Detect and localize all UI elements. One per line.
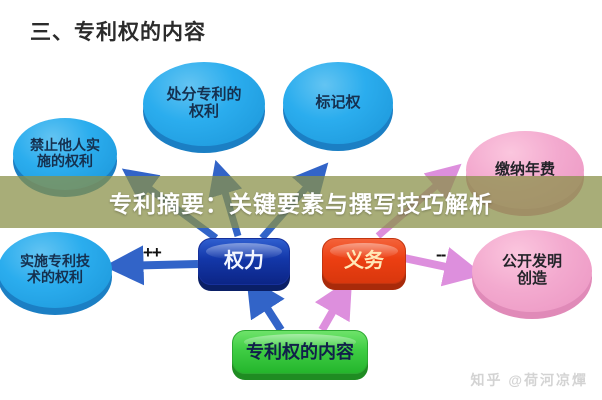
edge-content-to-power (254, 288, 281, 330)
node-marking-right[interactable]: 标记权 (283, 62, 393, 144)
node-duty[interactable]: 义务 (322, 238, 406, 284)
edge-content-to-duty (322, 290, 345, 330)
edge-power-to-implement (118, 264, 198, 266)
node-label: 公开发明 创造 (502, 254, 562, 288)
node-dispose-patent[interactable]: 处分专利的 权利 (143, 62, 265, 146)
node-label: 专利权的内容 (246, 342, 354, 362)
node-power[interactable]: 权力 (198, 238, 290, 285)
node-disclose-invention[interactable]: 公开发明 创造 (472, 230, 592, 312)
edge-label-plus: ++ (143, 243, 161, 263)
node-implement-patent[interactable]: 实施专利技 术的权利 (0, 232, 112, 308)
node-label: 禁止他人实 施的权利 (30, 138, 100, 169)
node-patent-right-content[interactable]: 专利权的内容 (232, 330, 368, 374)
node-label: 实施专利技 术的权利 (20, 254, 90, 285)
title-overlay-banner: 专利摘要：关键要素与撰写技巧解析 (0, 176, 602, 228)
node-label: 标记权 (315, 95, 360, 112)
node-label: 处分专利的 权利 (166, 87, 241, 121)
page-title: 三、专利权的内容 (30, 16, 206, 46)
node-label: 权力 (224, 250, 264, 272)
watermark: 知乎 @荷河凉燀 (470, 370, 588, 390)
node-label: 义务 (344, 250, 384, 272)
edge-label-minus: -- (436, 245, 445, 265)
slide-canvas: 三、专利权的内容 禁止他人实 施的权利 (0, 0, 602, 400)
banner-text: 专利摘要：关键要素与撰写技巧解析 (109, 185, 493, 219)
